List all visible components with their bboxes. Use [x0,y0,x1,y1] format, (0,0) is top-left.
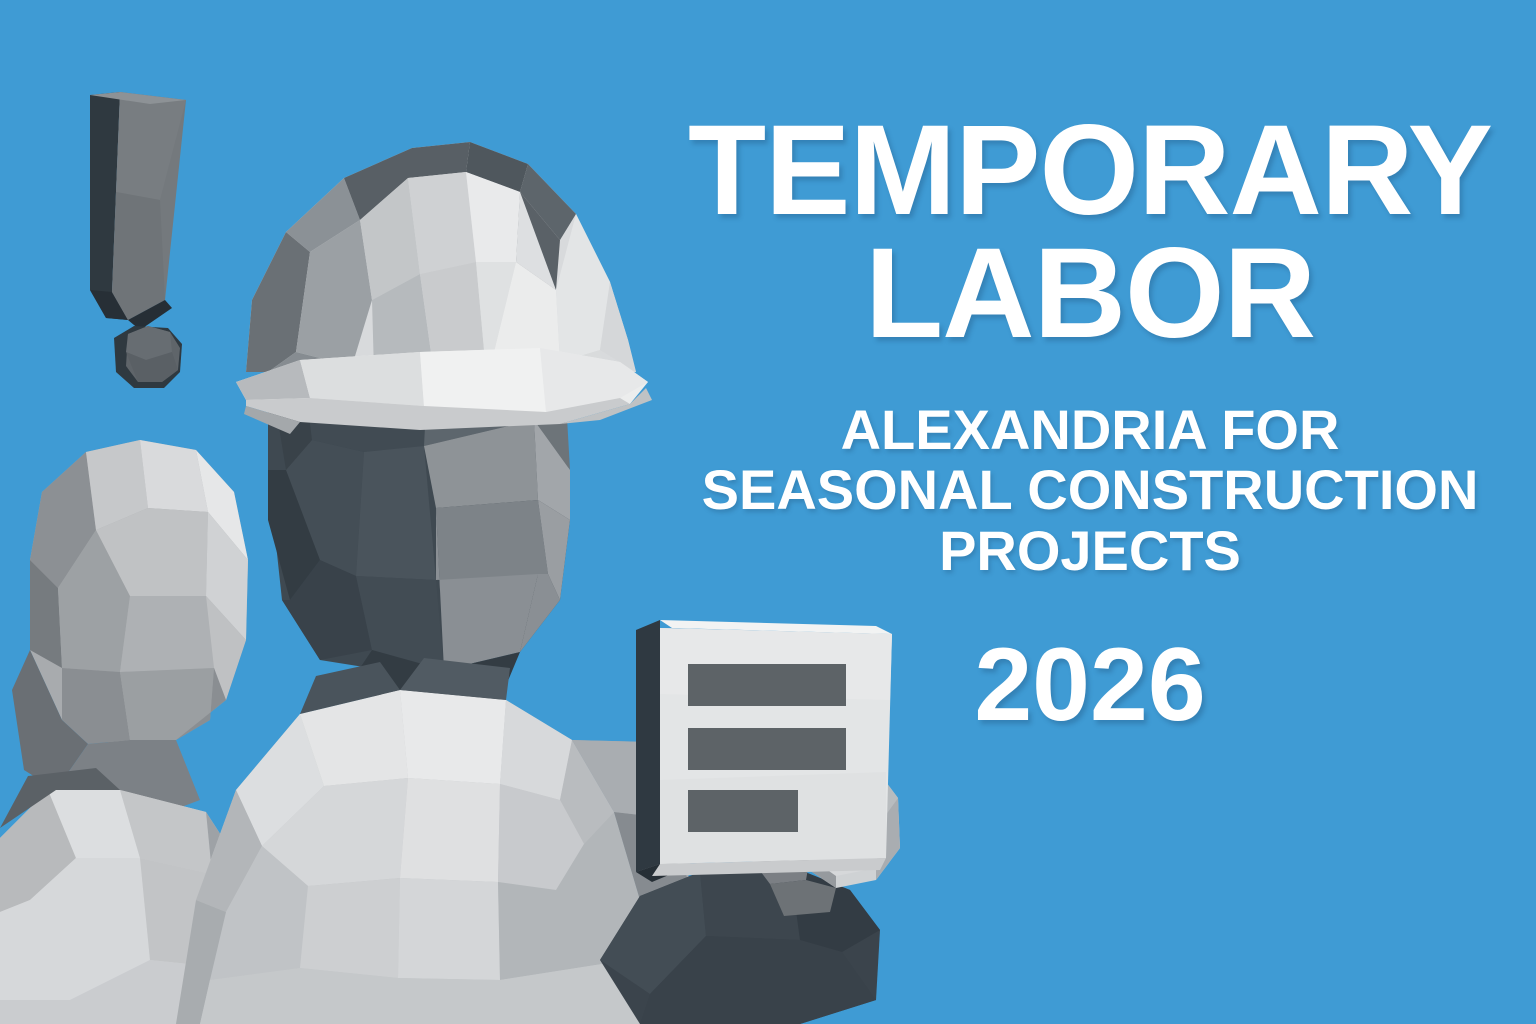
headline-line-1: TEMPORARY [688,99,1492,242]
subtitle-line-1: ALEXANDRIA FOR [660,400,1520,460]
headline-line-2: LABOR [660,233,1520,356]
subtitle-line-2: SEASONAL CONSTRUCTION [660,460,1520,520]
poster-subtitle: ALEXANDRIA FOR SEASONAL CONSTRUCTION PRO… [660,400,1520,581]
poster-year: 2026 [660,633,1520,737]
subtitle-line-3: PROJECTS [660,521,1520,581]
poster-canvas: TEMPORARY LABOR ALEXANDRIA FOR SEASONAL … [0,0,1536,1024]
document-text-line-3 [688,790,798,832]
poster-text-block: TEMPORARY LABOR ALEXANDRIA FOR SEASONAL … [660,110,1520,737]
page-title: TEMPORARY LABOR [660,110,1520,356]
